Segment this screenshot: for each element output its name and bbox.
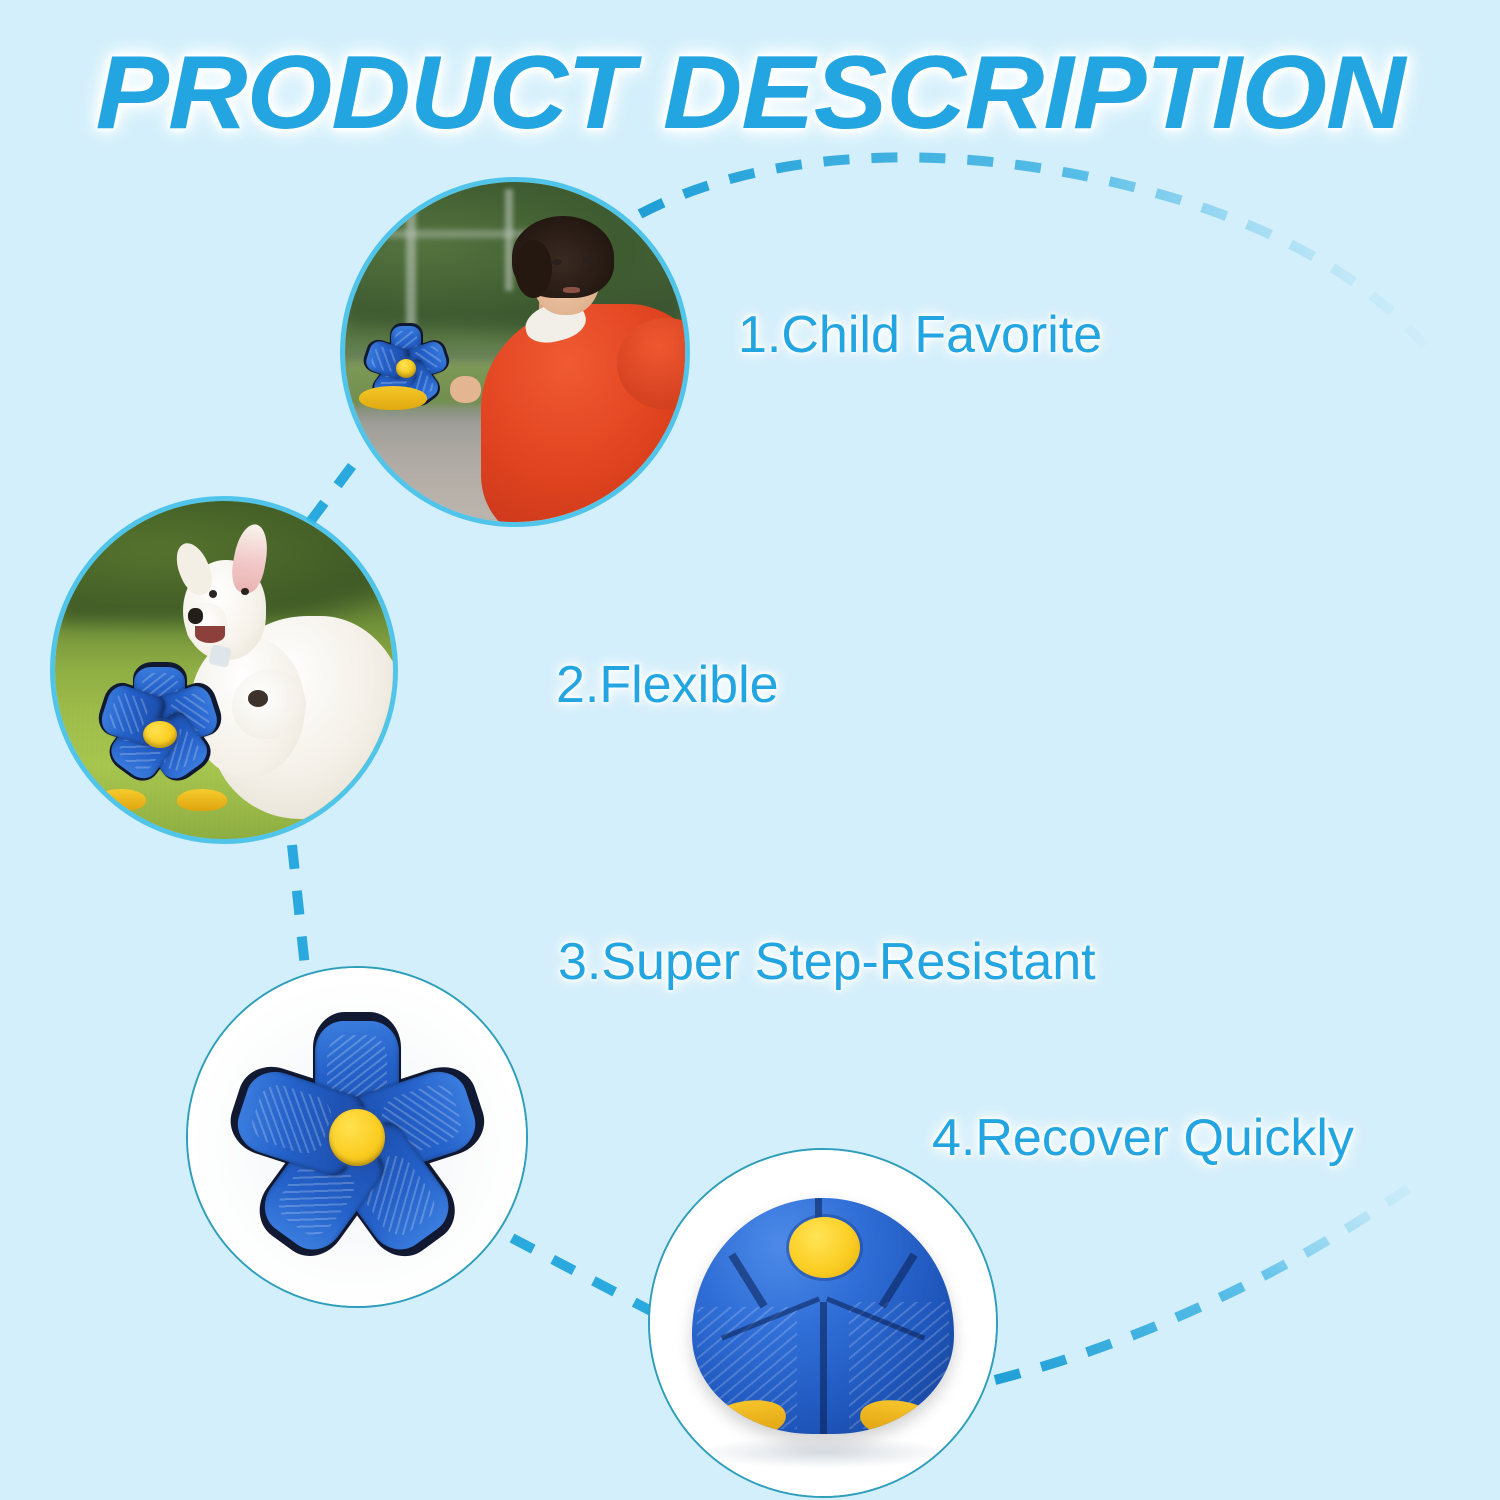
product-description-infographic: PRODUCT DESCRIPTION [0, 0, 1500, 1500]
toy-flat-disc-topview [218, 995, 495, 1279]
feature-image-super-step-resistant [186, 966, 528, 1308]
dog-head [183, 542, 298, 670]
feature-label-recover-quickly: 4.Recover Quickly [932, 1108, 1354, 1168]
feature-label-super-step-resistant: 3.Super Step-Resistant [558, 932, 1096, 992]
feature-label-flexible: 2.Flexible [556, 655, 779, 715]
page-title: PRODUCT DESCRIPTION [0, 34, 1500, 153]
feature-image-flexible [50, 496, 398, 844]
connector-2-to-3 [292, 845, 307, 986]
toy-flat-disc [75, 670, 244, 805]
connector-arc-bottom [995, 1180, 1420, 1380]
feature-image-recover-quickly [648, 1148, 998, 1498]
feature-image-child-favorite [340, 177, 690, 527]
feature-label-child-favorite: 1.Child Favorite [738, 305, 1102, 365]
